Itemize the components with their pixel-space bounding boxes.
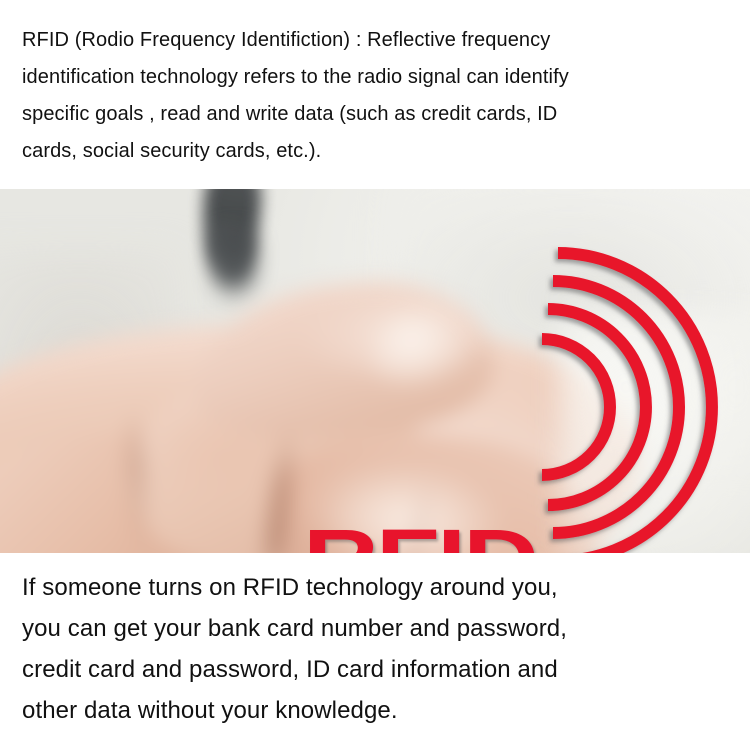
hand-highlight: [320, 465, 500, 553]
rfid-info-page: RFID (Rodio Frequency Identifiction) : R…: [0, 0, 750, 750]
top-text-line-2: identification technology refers to the …: [22, 59, 732, 96]
top-text-line-4: cards, social security cards, etc.).: [22, 133, 732, 170]
top-description-block: RFID (Rodio Frequency Identifiction) : R…: [0, 0, 750, 189]
bottom-text-line-4: other data without your knowledge.: [22, 690, 732, 731]
bottom-text-line-1: If someone turns on RFID technology arou…: [22, 567, 732, 608]
top-text-line-3: specific goals , read and write data (su…: [22, 96, 732, 133]
rfid-hand-photo: RFID: [0, 189, 750, 553]
top-text-line-1: RFID (Rodio Frequency Identifiction) : R…: [22, 22, 732, 59]
bottom-text-line-3: credit card and password, ID card inform…: [22, 649, 732, 690]
bottom-warning-block: If someone turns on RFID technology arou…: [0, 553, 750, 750]
photo-glass-overlay: [560, 309, 750, 553]
bottom-text-line-2: you can get your bank card number and pa…: [22, 608, 732, 649]
